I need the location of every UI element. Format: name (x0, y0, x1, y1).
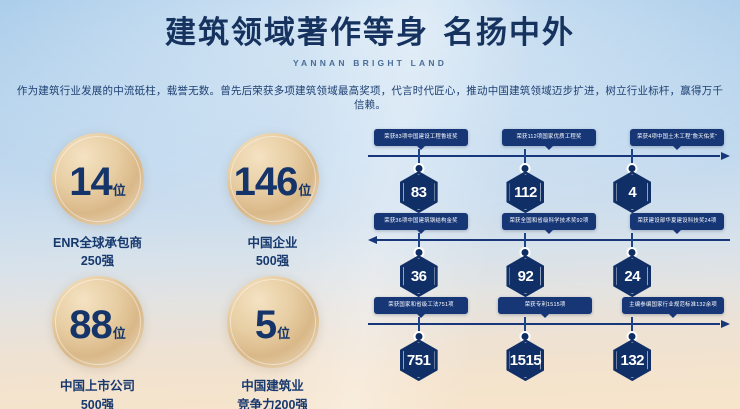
timeline-badge[interactable]: 4 (613, 171, 651, 213)
timeline-badge[interactable]: 92 (506, 255, 544, 297)
stat-label-line2: 竞争力200强 (185, 396, 360, 409)
badge-value: 751 (407, 352, 431, 369)
stat-circle: 14 位 (52, 133, 144, 225)
badge-value: 83 (411, 184, 427, 201)
stat-circle: 88 位 (52, 276, 144, 368)
badge-value: 112 (514, 184, 537, 201)
timeline-badge[interactable]: 36 (400, 255, 438, 297)
stat-card: 14 位 ENR全球承包商 250强 (10, 133, 185, 270)
stat-unit: 位 (113, 323, 126, 342)
stat-label-line1: ENR全球承包商 (10, 234, 185, 252)
timeline-badge[interactable]: 112 (506, 171, 544, 213)
timeline-badge[interactable]: 751 (400, 339, 438, 381)
stat-circle: 146 位 (227, 133, 319, 225)
stat-number: 14 (69, 165, 112, 199)
awards-timelines: 荣获83项中国建设工程鲁班奖 荣获112项国家优质工程奖 荣获4项中国土木工程“… (360, 127, 730, 409)
stat-label-line1: 中国企业 (185, 234, 360, 252)
stat-number: 146 (234, 165, 298, 199)
badge-value: 36 (411, 268, 427, 285)
timeline-row: 荣获83项中国建设工程鲁班奖 荣获112项国家优质工程奖 荣获4项中国土木工程“… (368, 129, 730, 213)
stat-unit: 位 (113, 180, 126, 199)
stat-card: 88 位 中国上市公司 500强 (10, 276, 185, 409)
stat-label: ENR全球承包商 250强 (10, 234, 185, 270)
stat-label: 中国建筑业 竞争力200强 (185, 377, 360, 409)
timeline-row: 荣获36项中国建筑钢结构金奖 荣获全国和省级科学技术奖92项 荣获建设部华夏建设… (368, 213, 730, 297)
badge-value: 24 (624, 268, 640, 285)
timeline-row: 荣获国家和省级工法751项 荣获专利1515项 主编参编国家行业规范标准132余… (368, 297, 730, 381)
brand-subtitle: YANNAN BRIGHT LAND (0, 58, 740, 68)
timeline-badge[interactable]: 24 (613, 255, 651, 297)
page-title-main: 建筑领域著作等身 (165, 15, 429, 50)
timeline-markers: 751 1515 132 (368, 297, 730, 381)
stats-grid: 14 位 ENR全球承包商 250强 146 位 中国企业 500强 (10, 127, 360, 409)
page-header: 建筑领域著作等身名扬中外 YANNAN BRIGHT LAND 作为建筑行业发展… (0, 0, 740, 113)
stat-label-line2: 500强 (185, 252, 360, 270)
page-title: 建筑领域著作等身名扬中外 (0, 14, 740, 53)
stat-label: 中国上市公司 500强 (10, 377, 185, 409)
stat-label-line2: 250强 (10, 252, 185, 270)
badge-value: 132 (620, 352, 644, 369)
stat-label-line1: 中国建筑业 (185, 377, 360, 395)
stat-unit: 位 (298, 180, 311, 199)
timeline-badge[interactable]: 83 (400, 171, 438, 213)
stat-number: 5 (255, 308, 276, 342)
badge-value: 1515 (510, 352, 541, 369)
stat-number: 88 (69, 308, 112, 342)
main-content: 14 位 ENR全球承包商 250强 146 位 中国企业 500强 (0, 113, 740, 409)
intro-paragraph: 作为建筑行业发展的中流砥柱，载誉无数。曾先后荣获多项建筑领域最高奖项，代言时代匠… (0, 84, 740, 113)
timeline-markers: 36 92 24 (368, 213, 730, 297)
stat-card: 5 位 中国建筑业 竞争力200强 (185, 276, 360, 409)
stat-label: 中国企业 500强 (185, 234, 360, 270)
stat-label-line1: 中国上市公司 (10, 377, 185, 395)
timeline-badge[interactable]: 1515 (506, 339, 544, 381)
stat-card: 146 位 中国企业 500强 (185, 133, 360, 270)
badge-value: 4 (628, 184, 636, 201)
stat-unit: 位 (277, 323, 290, 342)
page-title-sub: 名扬中外 (443, 15, 575, 50)
timeline-badge[interactable]: 132 (613, 339, 651, 381)
stat-label-line2: 500强 (10, 396, 185, 409)
stat-circle: 5 位 (227, 276, 319, 368)
timeline-markers: 83 112 4 (368, 129, 730, 213)
badge-value: 92 (518, 268, 534, 285)
